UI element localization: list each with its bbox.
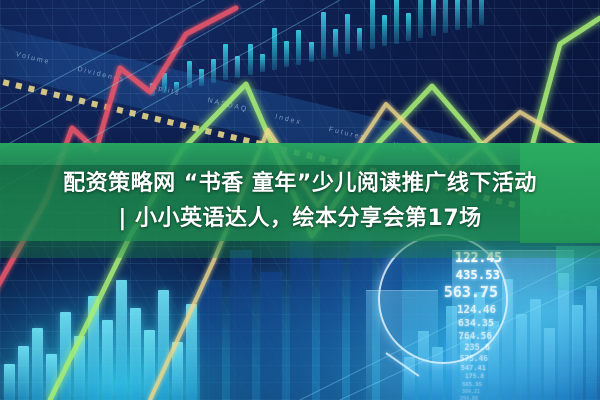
price-value: 435.53 — [396, 267, 502, 283]
title-line-1: 配资策略网 “书香 童年”少儿阅读推广线下活动 — [0, 166, 600, 201]
price-value: 384.21 — [396, 389, 502, 396]
price-value: 575.46 — [396, 354, 502, 364]
title-line-2: | 小小英语达人，绘本分享会第17场 — [0, 201, 600, 236]
price-value: 235.6 — [396, 343, 502, 354]
price-value: 175.8 — [396, 373, 502, 381]
overlay-fade-band — [0, 241, 600, 258]
price-value: 563.75 — [396, 283, 502, 303]
overlay-top-band — [0, 143, 600, 165]
banner-title: 配资策略网 “书香 童年”少儿阅读推广线下活动 | 小小英语达人，绘本分享会第1… — [0, 166, 600, 236]
price-value: 547.41 — [396, 364, 502, 373]
price-value: 124.46 — [396, 303, 502, 317]
price-value: 294.88 — [396, 396, 502, 400]
price-value: 565.95 — [396, 382, 502, 389]
price-ticker-column: 122.45435.53563.75124.46634.35764.56235.… — [396, 250, 502, 400]
banner-image: Earnings UpVolumeDividendsSplitsNASDAQIn… — [0, 0, 600, 400]
price-value: 764.56 — [396, 331, 502, 343]
price-value: 634.35 — [396, 317, 502, 330]
